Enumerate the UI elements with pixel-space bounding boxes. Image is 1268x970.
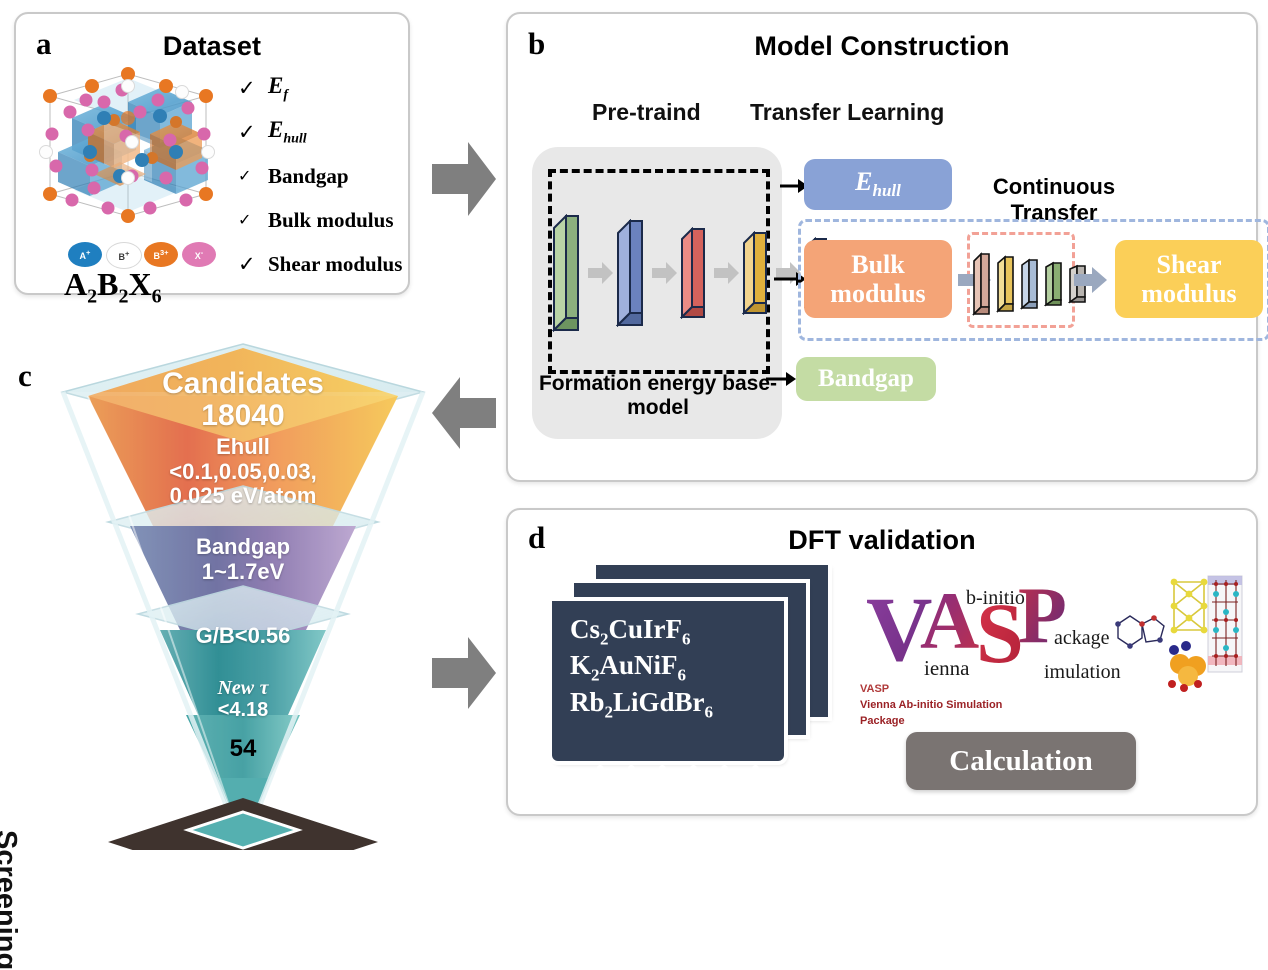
panel-a-dataset: a Dataset: [14, 12, 410, 295]
legend-chip-x-anion: X-: [182, 242, 216, 267]
arrow-c-to-d: [430, 635, 498, 716]
screening-side-label: Screening: [0, 830, 22, 970]
panel-d-title: DFT validation: [508, 525, 1256, 556]
pretrain-label: Pre-traind: [592, 99, 701, 126]
vasp-caption: VASP Vienna Ab-initio Simulation Package: [860, 682, 1002, 730]
check-item-bandgap: ✓ Bandgap: [238, 154, 408, 198]
mini-structure-thumbnails: [1108, 572, 1243, 700]
checkmark-icon: ✓: [238, 212, 268, 228]
check-label-bandgap: Bandgap: [268, 164, 349, 189]
nn-layer-yellow: [742, 231, 770, 315]
atom-legend: A+ B+ B3+ X-: [68, 242, 208, 268]
connector-arrow-to-bandgap: [766, 367, 796, 391]
property-check-list: ✓ Ef ✓ Ehull ✓ Bandgap ✓ Bulk modulus ✓ …: [238, 66, 408, 286]
check-label-ef: Ef: [268, 73, 288, 104]
candidate-formula-1: Cs2CuIrF6: [570, 613, 800, 649]
nn-layer-blue: [616, 219, 646, 327]
output-box-bulk-modulus[interactable]: Bulk modulus: [804, 240, 952, 318]
check-label-ehull: Ehull: [268, 117, 307, 148]
panel-b-model-construction: b Model Construction Pre-traind Transfer…: [506, 12, 1258, 482]
flow-arrow-layers-to-shear: [1074, 266, 1108, 294]
legend-label-b3: B3+: [153, 248, 168, 261]
output-box-bulk-label: Bulk modulus: [804, 250, 952, 308]
checkmark-icon: ✓: [238, 122, 268, 143]
check-item-ehull: ✓ Ehull: [238, 110, 408, 154]
output-box-shear-label: Shear modulus: [1115, 250, 1263, 308]
output-box-ehull[interactable]: Ehull: [804, 159, 952, 210]
transfer-learning-label: Transfer Learning: [750, 99, 944, 126]
check-item-bulk-modulus: ✓ Bulk modulus: [238, 198, 408, 242]
svg-text:ienna: ienna: [924, 656, 970, 680]
nn-layer-green: [552, 214, 582, 332]
crystal-structure-image: [32, 56, 222, 234]
output-box-bandgap[interactable]: Bandgap: [796, 357, 936, 401]
flow-arrow-icon: [714, 262, 740, 284]
nn-transfer-layer-yellow: [996, 254, 1016, 314]
candidate-ellipsis-dots: • • • • • •: [596, 755, 768, 783]
output-box-ehull-label: Ehull: [855, 167, 901, 201]
checkmark-icon: ✓: [238, 254, 268, 275]
panel-c-screening: c Screening: [8, 320, 468, 850]
checkmark-icon: ✓: [238, 78, 268, 99]
nn-layer-red: [680, 227, 708, 319]
output-box-shear-modulus[interactable]: Shear modulus: [1115, 240, 1263, 318]
nn-transfer-layer-blue: [1020, 257, 1040, 311]
candidate-formula-2: K2AuNiF6: [570, 649, 800, 685]
legend-chip-a-cation: A+: [68, 242, 102, 267]
output-box-bandgap-label: Bandgap: [818, 365, 914, 393]
arrow-a-to-b: [430, 140, 498, 223]
legend-chip-b3-cation: B3+: [144, 242, 178, 267]
vasp-caption-line3: Package: [860, 714, 1002, 730]
check-label-bulk-modulus: Bulk modulus: [268, 208, 394, 233]
checkmark-icon: ✓: [238, 168, 268, 184]
vasp-caption-line2: Vienna Ab-initio Simulation: [860, 698, 1002, 714]
nn-transfer-layer-green: [1044, 260, 1064, 308]
base-model-label: Formation energy base-model: [538, 372, 778, 420]
flow-arrow-icon: [652, 262, 678, 284]
nn-transfer-layer-tan: [972, 251, 992, 317]
panel-c-letter: c: [18, 360, 32, 391]
candidate-formula-3: Rb2LiGdBr6: [570, 686, 800, 722]
calculation-button[interactable]: Calculation: [906, 732, 1136, 790]
candidate-card-stack: Cs2CuIrF6 K2AuNiF6 Rb2LiGdBr6 • • • • • …: [548, 565, 838, 785]
check-item-ef: ✓ Ef: [238, 66, 408, 110]
legend-label-a: A+: [80, 248, 91, 261]
check-item-shear-modulus: ✓ Shear modulus: [238, 242, 408, 286]
screening-funnel: Candidates 18040 Ehull <0.1,0.05,0.03, 0…: [48, 330, 438, 850]
legend-chip-b-cation: B+: [106, 242, 142, 269]
vasp-caption-line1: VASP: [860, 682, 1002, 698]
legend-label-x: X-: [195, 248, 204, 261]
calculation-button-label: Calculation: [949, 745, 1092, 778]
check-label-shear-modulus: Shear modulus: [268, 252, 402, 277]
candidate-formula-list: Cs2CuIrF6 K2AuNiF6 Rb2LiGdBr6: [570, 613, 800, 722]
svg-text:b-initio: b-initio: [966, 587, 1025, 609]
panel-b-title: Model Construction: [508, 31, 1256, 62]
svg-text:ackage: ackage: [1054, 627, 1110, 649]
chemical-formula-a2b2x6: A2B2X6: [64, 266, 162, 308]
panel-d-dft-validation: d DFT validation Cs2CuIrF6 K2AuNiF6 Rb2L…: [506, 508, 1258, 816]
flow-arrow-icon: [588, 262, 614, 284]
legend-label-b: B+: [119, 249, 130, 262]
